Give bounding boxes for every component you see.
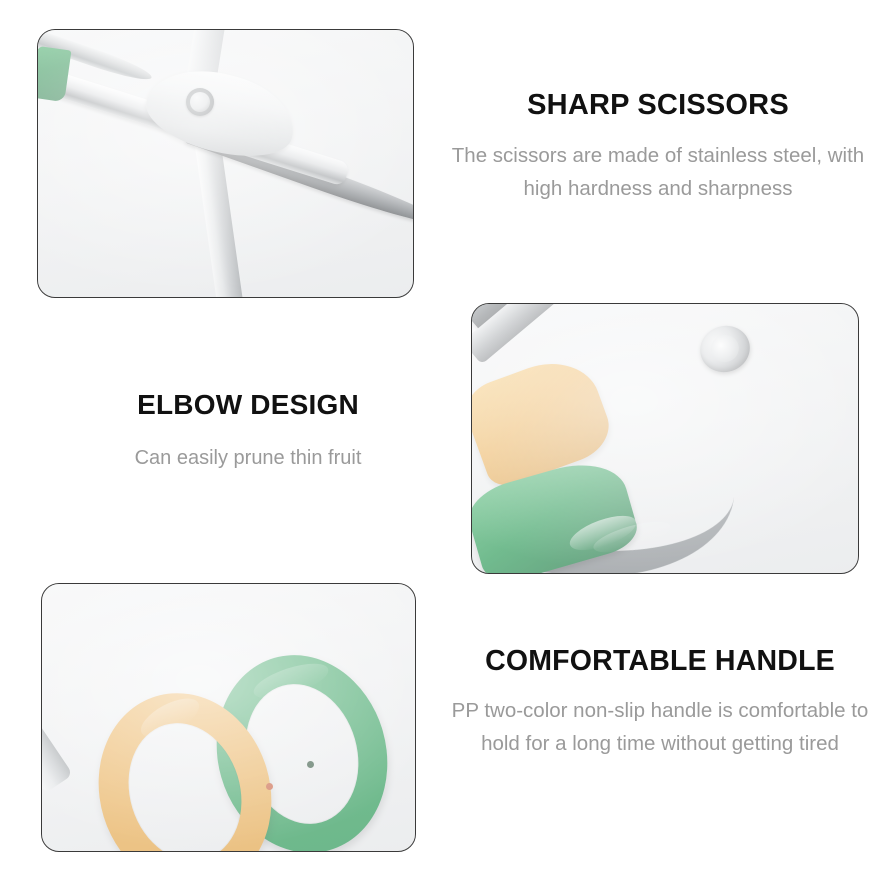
two-color-handles-photo — [42, 584, 415, 851]
pivot-screw-icon — [186, 88, 214, 116]
feature-title-elbow-design: ELBOW DESIGN — [52, 388, 444, 422]
green-handle-molding-dot — [307, 761, 314, 768]
photo-panel-elbow-design — [471, 303, 859, 574]
feature-description-elbow-design: Can easily prune thin fruit — [52, 442, 444, 474]
pivot-screw-icon — [694, 319, 756, 378]
feature-text-sharp-scissors: SHARP SCISSORS The scissors are made of … — [444, 88, 872, 205]
yellow-handle-molding-dot — [266, 783, 273, 790]
photo-panel-sharp-scissors — [37, 29, 414, 298]
feature-text-comfortable-handle: COMFORTABLE HANDLE PP two-color non-slip… — [440, 644, 880, 761]
feature-description-comfortable-handle: PP two-color non-slip handle is comforta… — [440, 694, 880, 760]
feature-description-sharp-scissors: The scissors are made of stainless steel… — [444, 139, 872, 205]
product-infographic: SHARP SCISSORS The scissors are made of … — [0, 0, 888, 888]
handle-blade-stub-lower — [42, 805, 66, 851]
feature-title-sharp-scissors: SHARP SCISSORS — [444, 88, 872, 123]
handle-blade-stub-upper — [42, 609, 73, 794]
feature-text-elbow-design: ELBOW DESIGN Can easily prune thin fruit — [52, 388, 444, 474]
elbow-blade-front — [472, 304, 834, 364]
photo-panel-comfortable-handle — [41, 583, 416, 852]
elbow-bend-closeup-photo — [472, 304, 858, 573]
open-scissors-blades-photo — [38, 30, 413, 297]
feature-title-comfortable-handle: COMFORTABLE HANDLE — [440, 644, 880, 678]
